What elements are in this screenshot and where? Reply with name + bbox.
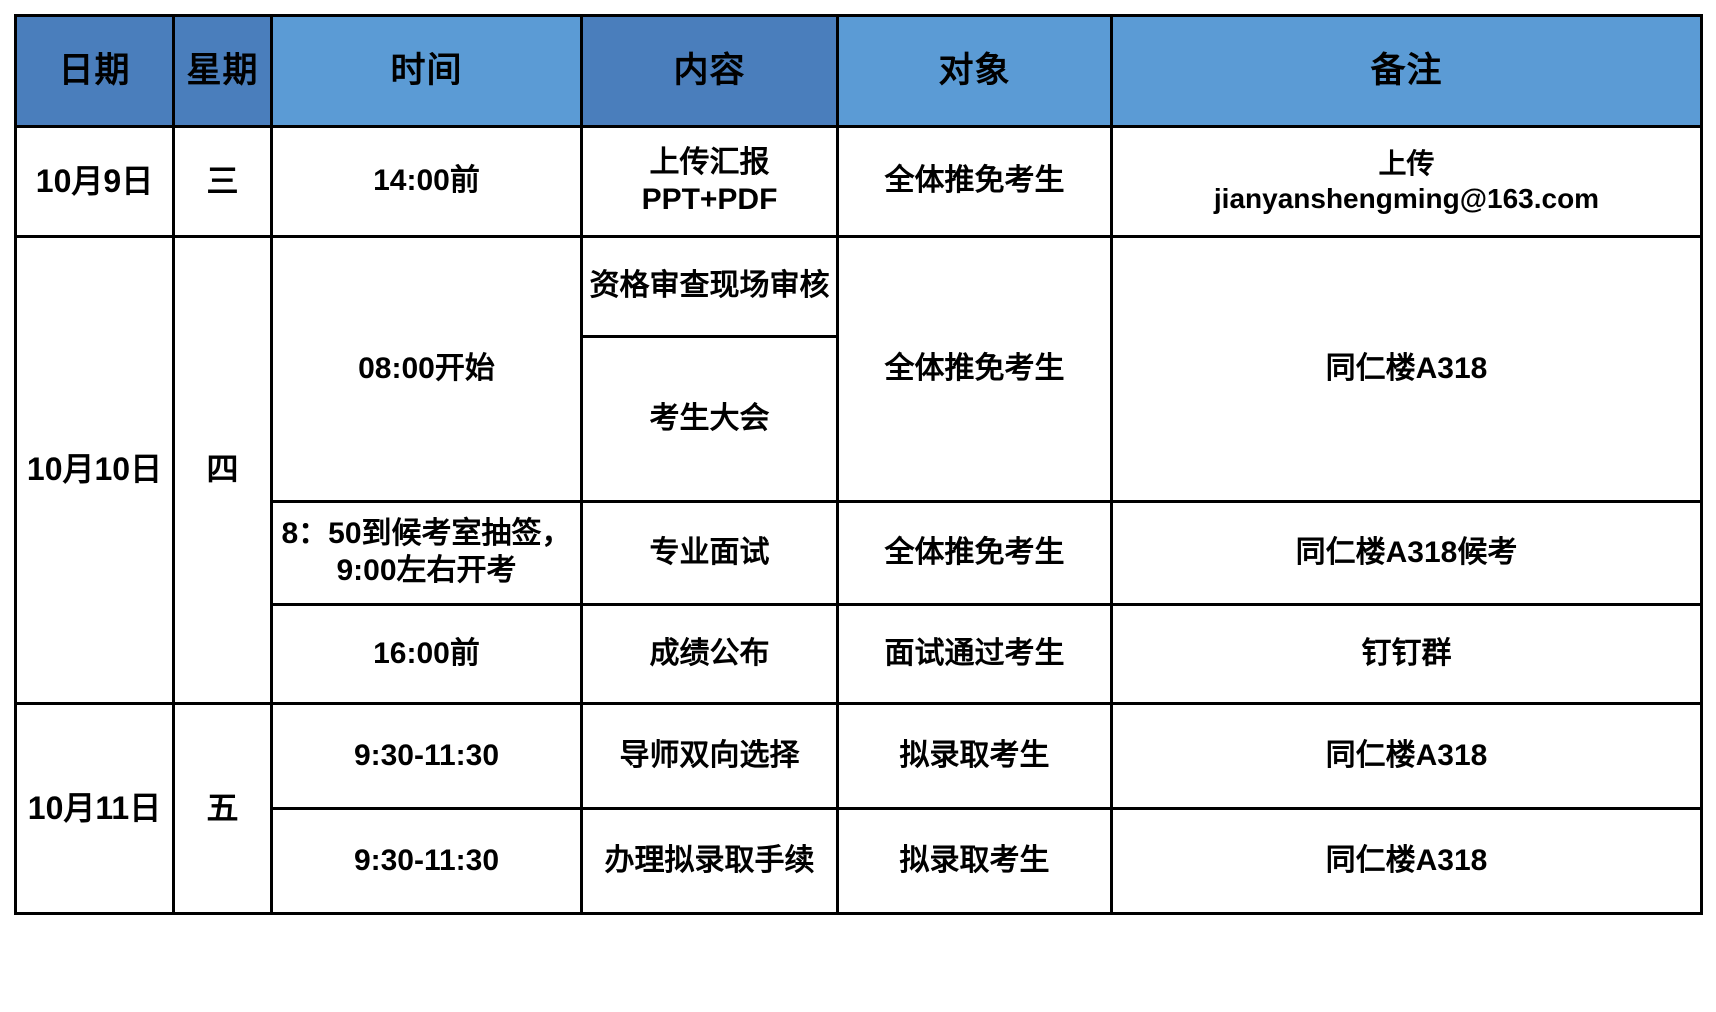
time-line-2: 9:00左右开考 xyxy=(277,553,576,590)
cell-target-oct10-morning: 全体推免考生 xyxy=(838,237,1112,502)
cell-target-interview: 全体推免考生 xyxy=(838,502,1112,605)
time-line-1: 8：50到候考室抽签， xyxy=(277,516,576,553)
cell-content-qualification-review: 资格审查现场审核 xyxy=(582,237,838,337)
cell-target-admission: 拟录取考生 xyxy=(838,809,1112,914)
cell-weekday-oct10: 四 xyxy=(174,237,272,704)
table-body: 10月9日 三 14:00前 上传汇报 PPT+PDF 全体推免考生 上传 ji… xyxy=(16,127,1702,914)
content-line-1: 上传汇报 xyxy=(587,145,832,182)
cell-content-candidate-meeting: 考生大会 xyxy=(582,337,838,502)
cell-note-oct10-morning: 同仁楼A318 xyxy=(1112,237,1702,502)
cell-note-results: 钉钉群 xyxy=(1112,605,1702,704)
header-row: 日期 星期 时间 内容 对象 备注 xyxy=(16,16,1702,127)
column-header-weekday: 星期 xyxy=(174,16,272,127)
table-row: 10月11日 五 9:30-11:30 导师双向选择 拟录取考生 同仁楼A318 xyxy=(16,704,1702,809)
note-line-2: jianyanshengming@163.com xyxy=(1117,182,1696,216)
cell-time-850-draw: 8：50到候考室抽签， 9:00左右开考 xyxy=(272,502,582,605)
content-line-2: PPT+PDF xyxy=(587,182,832,219)
column-header-content: 内容 xyxy=(582,16,838,127)
interview-schedule-table: 日期 星期 时间 内容 对象 备注 10月9日 三 14:00前 上传汇报 PP… xyxy=(14,14,1703,915)
table-row: 10月10日 四 08:00开始 资格审查现场审核 全体推免考生 同仁楼A318 xyxy=(16,237,1702,337)
cell-time-1600: 16:00前 xyxy=(272,605,582,704)
column-header-note: 备注 xyxy=(1112,16,1702,127)
cell-content-advisor-selection: 导师双向选择 xyxy=(582,704,838,809)
table-row: 10月9日 三 14:00前 上传汇报 PPT+PDF 全体推免考生 上传 ji… xyxy=(16,127,1702,237)
cell-time-0800: 08:00开始 xyxy=(272,237,582,502)
cell-date-oct11: 10月11日 xyxy=(16,704,174,914)
cell-time-oct11-admission: 9:30-11:30 xyxy=(272,809,582,914)
table-header: 日期 星期 时间 内容 对象 备注 xyxy=(16,16,1702,127)
cell-note-admission: 同仁楼A318 xyxy=(1112,809,1702,914)
note-line-1: 上传 xyxy=(1117,147,1696,181)
cell-note-oct9: 上传 jianyanshengming@163.com xyxy=(1112,127,1702,237)
cell-target-advisor: 拟录取考生 xyxy=(838,704,1112,809)
cell-target-results: 面试通过考生 xyxy=(838,605,1112,704)
cell-time-oct9: 14:00前 xyxy=(272,127,582,237)
cell-note-advisor: 同仁楼A318 xyxy=(1112,704,1702,809)
cell-weekday-oct11: 五 xyxy=(174,704,272,914)
cell-content-professional-interview: 专业面试 xyxy=(582,502,838,605)
cell-note-interview: 同仁楼A318候考 xyxy=(1112,502,1702,605)
cell-date-oct10: 10月10日 xyxy=(16,237,174,704)
cell-target-oct9: 全体推免考生 xyxy=(838,127,1112,237)
column-header-date: 日期 xyxy=(16,16,174,127)
cell-weekday-oct9: 三 xyxy=(174,127,272,237)
cell-content-results: 成绩公布 xyxy=(582,605,838,704)
cell-content-oct9: 上传汇报 PPT+PDF xyxy=(582,127,838,237)
schedule-sheet: 日期 星期 时间 内容 对象 备注 10月9日 三 14:00前 上传汇报 PP… xyxy=(0,0,1716,1012)
column-header-target: 对象 xyxy=(838,16,1112,127)
column-header-time: 时间 xyxy=(272,16,582,127)
cell-date-oct9: 10月9日 xyxy=(16,127,174,237)
cell-time-oct11-advisor: 9:30-11:30 xyxy=(272,704,582,809)
cell-content-admission-formalities: 办理拟录取手续 xyxy=(582,809,838,914)
